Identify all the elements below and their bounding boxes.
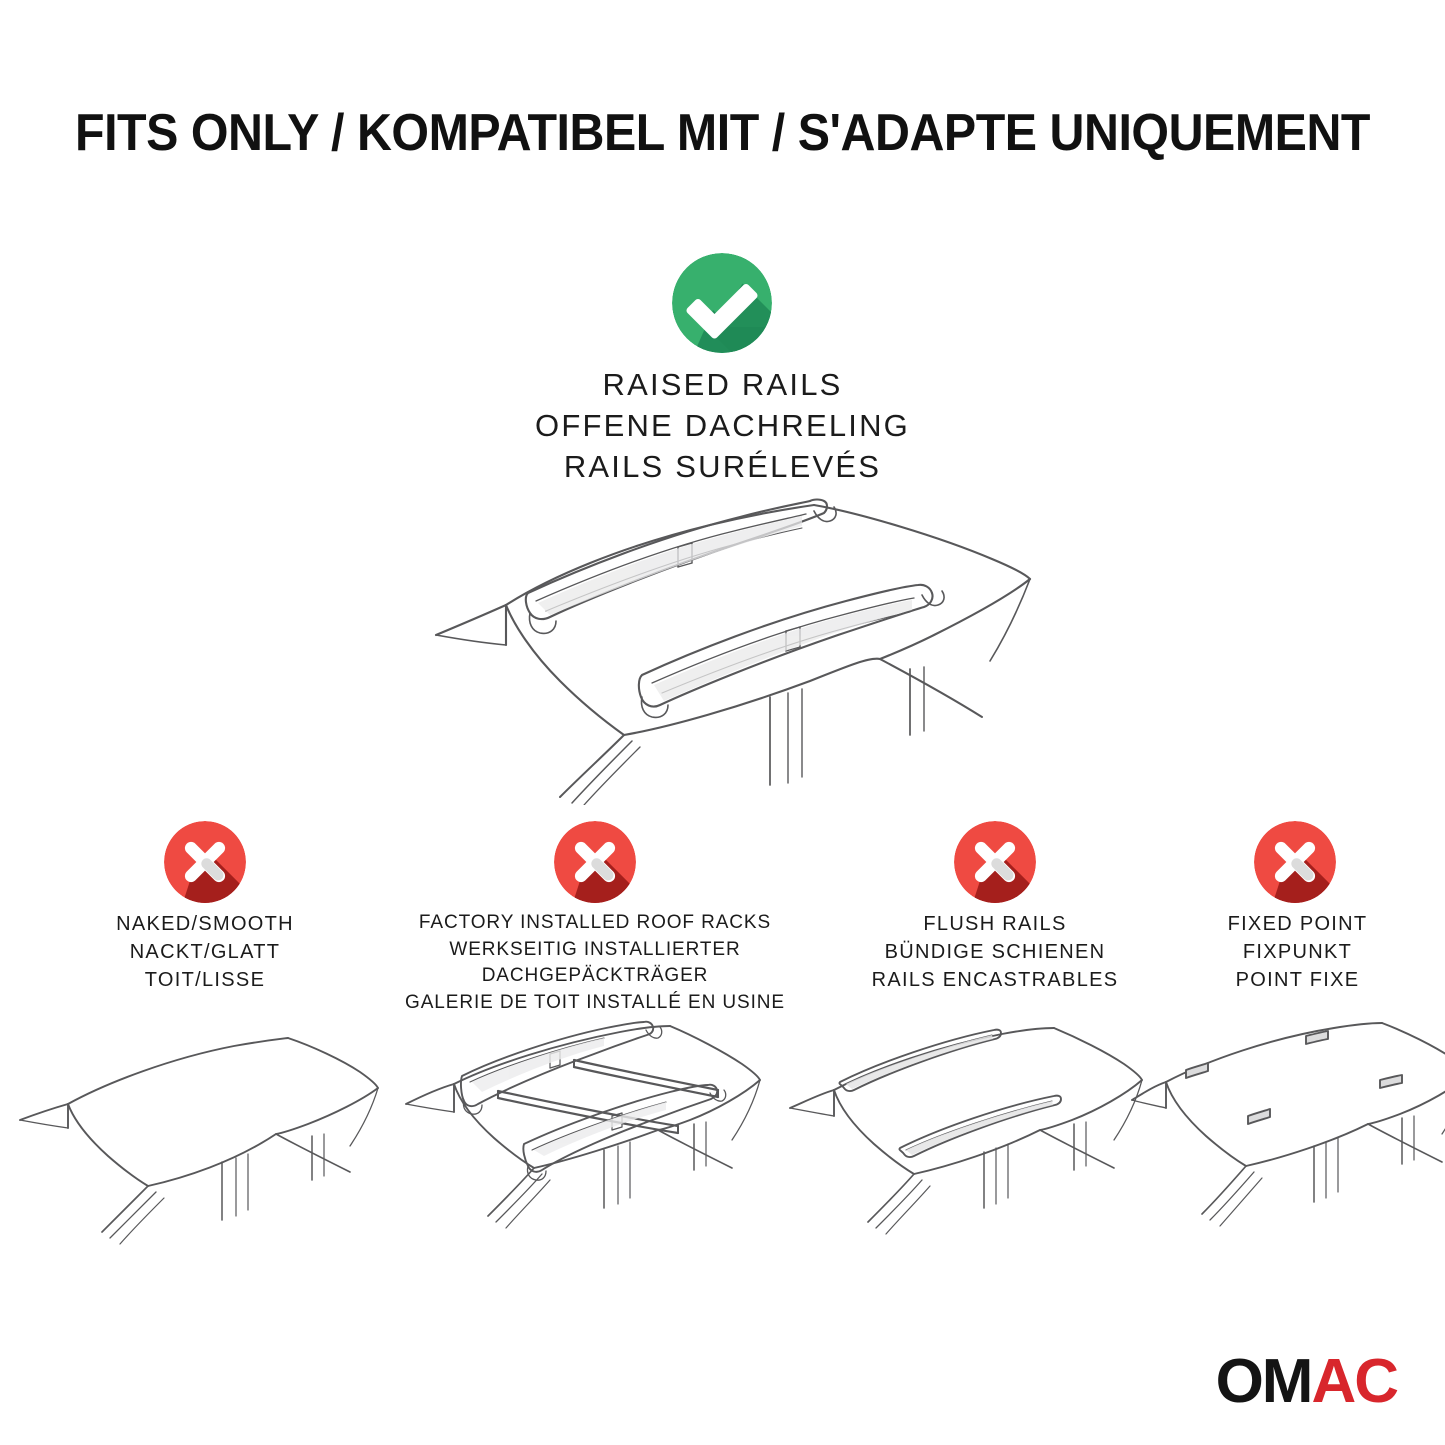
x-circle-icon xyxy=(1254,821,1336,903)
compatible-label: RAISED RAILS OFFENE DACHRELING RAILS SUR… xyxy=(0,364,1445,488)
factory-roof-racks-line-4: GALERIE DE TOIT INSTALLÉ EN USINE xyxy=(370,990,820,1017)
compatible-label-line-1: RAISED RAILS xyxy=(0,364,1445,405)
car-roof-raised-rails-illustration xyxy=(410,485,1050,805)
car-roof-flush-rails-illustration xyxy=(788,1020,1164,1255)
naked-smooth-label: NAKED/SMOOTH NACKT/GLATT TOIT/LISSE xyxy=(45,910,365,994)
x-circle-icon xyxy=(554,821,636,903)
logo-text-ac: AC xyxy=(1311,1347,1397,1416)
fixed-point-line-3: POINT FIXE xyxy=(1155,966,1440,994)
infographic-page: FITS ONLY / KOMPATIBEL MIT / S'ADAPTE UN… xyxy=(0,0,1445,1445)
check-circle-icon xyxy=(672,253,772,353)
x-circle-icon xyxy=(164,821,246,903)
factory-roof-racks-line-2: WERKSEITIG INSTALLIERTER xyxy=(370,937,820,964)
fixed-point-label: FIXED POINT FIXPUNKT POINT FIXE xyxy=(1155,910,1440,994)
flush-rails-line-1: FLUSH RAILS xyxy=(835,910,1155,938)
factory-roof-racks-line-1: FACTORY INSTALLED ROOF RACKS xyxy=(370,910,820,937)
flush-rails-line-2: BÜNDIGE SCHIENEN xyxy=(835,938,1155,966)
car-roof-factory-roof-rack-illustration xyxy=(398,1020,774,1255)
compatible-label-line-2: OFFENE DACHRELING xyxy=(0,405,1445,446)
naked-smooth-line-2: NACKT/GLATT xyxy=(45,938,365,966)
logo-text-om: OM xyxy=(1216,1347,1312,1416)
fixed-point-line-1: FIXED POINT xyxy=(1155,910,1440,938)
naked-smooth-line-3: TOIT/LISSE xyxy=(45,966,365,994)
flush-rails-label: FLUSH RAILS BÜNDIGE SCHIENEN RAILS ENCAS… xyxy=(835,910,1155,994)
flush-rails-line-3: RAILS ENCASTRABLES xyxy=(835,966,1155,994)
factory-roof-racks-label: FACTORY INSTALLED ROOF RACKS WERKSEITIG … xyxy=(370,910,820,1016)
car-roof-fixed-point-illustration xyxy=(1130,1020,1445,1255)
naked-smooth-line-1: NAKED/SMOOTH xyxy=(45,910,365,938)
car-roof-naked-smooth-illustration xyxy=(12,1020,388,1255)
x-circle-icon xyxy=(954,821,1036,903)
omac-logo: OMAC xyxy=(1216,1351,1397,1413)
factory-roof-racks-line-3: DACHGEPÄCKTRÄGER xyxy=(370,963,820,990)
page-title: FITS ONLY / KOMPATIBEL MIT / S'ADAPTE UN… xyxy=(51,103,1395,163)
fixed-point-line-2: FIXPUNKT xyxy=(1155,938,1440,966)
compatible-label-line-3: RAILS SURÉLEVÉS xyxy=(0,446,1445,487)
